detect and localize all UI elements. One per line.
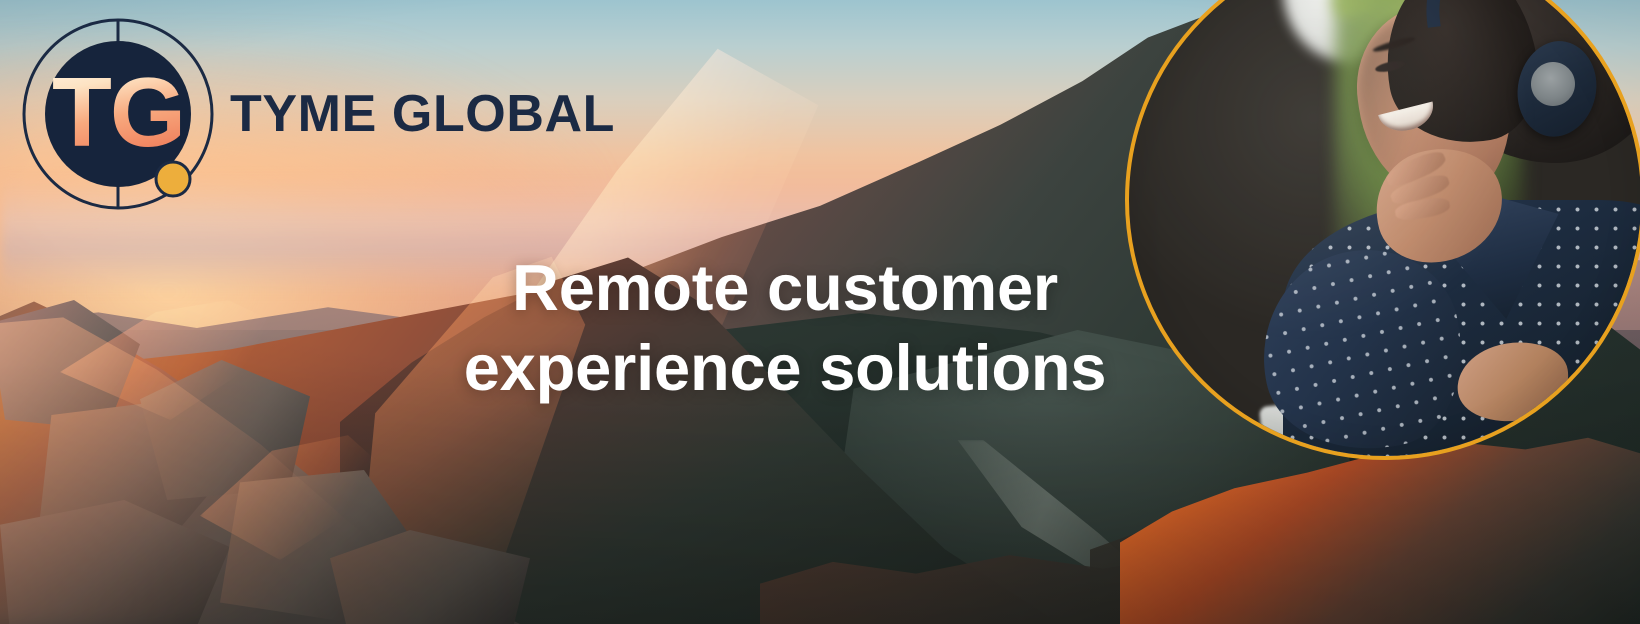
svg-text:TG: TG bbox=[52, 57, 184, 167]
brand-logo-lockup[interactable]: TG TYME GLOBAL bbox=[16, 12, 615, 216]
hero-banner: TG TYME GLOBAL Remote customer experienc… bbox=[0, 0, 1640, 624]
agent-portrait-image bbox=[1129, 0, 1640, 456]
brand-wordmark: TYME GLOBAL bbox=[230, 88, 615, 140]
tyme-global-orbit-logo-icon: TG bbox=[16, 12, 220, 216]
